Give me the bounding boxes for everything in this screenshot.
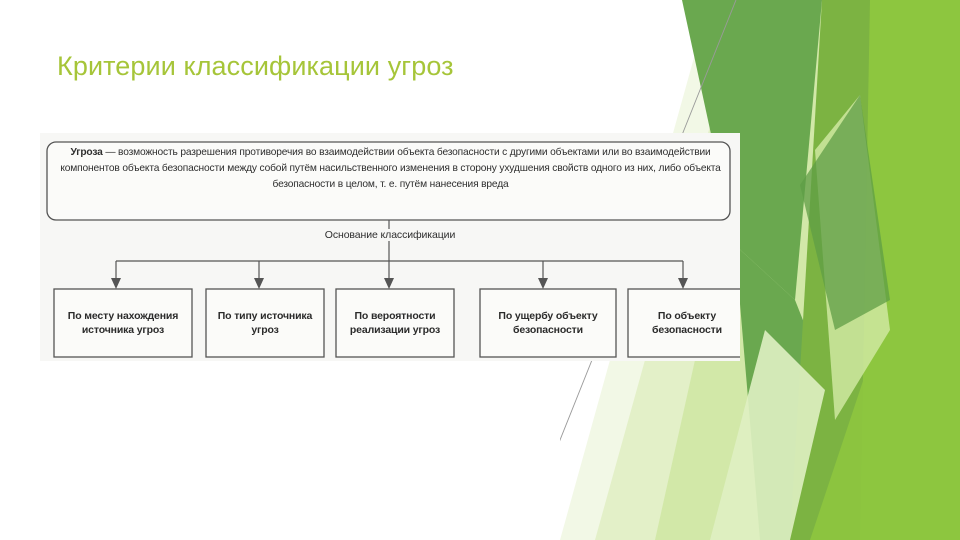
basis-of-classification-label: Основание классификации	[270, 229, 510, 241]
deco-shape-dark-2	[735, 245, 890, 540]
definition-separator: —	[103, 147, 118, 158]
category-label-3: По вероятности реализации угроз	[336, 289, 454, 357]
deco-shape-bright-1	[860, 0, 960, 540]
definition-text: Угроза — возможность разрешения противор…	[54, 145, 727, 194]
arrowhead-4	[538, 278, 548, 289]
deco-shape-light-2	[815, 95, 890, 420]
category-label-1: По месту нахождения источника угроз	[54, 289, 192, 357]
threat-classification-diagram: Угроза — возможность разрешения противор…	[40, 133, 740, 361]
arrowhead-3	[384, 278, 394, 289]
slide-title: Критерии классификации угроз	[57, 50, 657, 82]
arrowhead-5	[678, 278, 688, 289]
deco-shape-dark-3	[800, 95, 890, 330]
arrowhead-1	[111, 278, 121, 289]
deco-shape-bright-2	[810, 90, 960, 540]
definition-term: Угроза	[70, 147, 102, 158]
definition-body: возможность разрешения противоречия во в…	[60, 147, 720, 190]
category-label-4: По ущербу объекту безопасности	[480, 289, 616, 357]
category-label-5: По объекту безопасности	[628, 289, 746, 357]
category-label-2: По типу источника угроз	[206, 289, 324, 357]
deco-shape-mid-1	[790, 0, 960, 540]
slide: Критерии классификации угроз	[0, 0, 960, 540]
deco-shape-pale-3	[710, 330, 825, 540]
arrowhead-2	[254, 278, 264, 289]
